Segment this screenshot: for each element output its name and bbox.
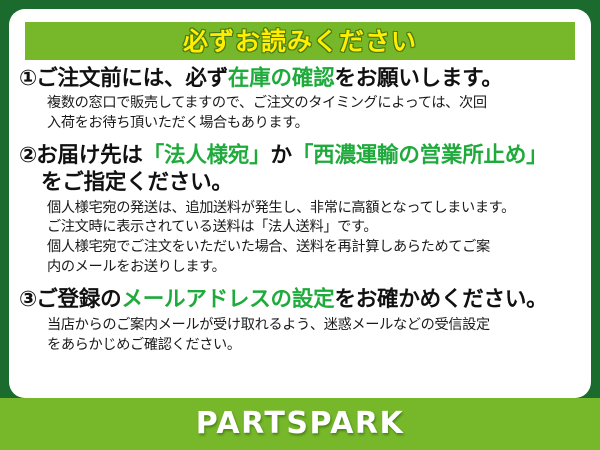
- notice-item-3-head-post: をお確かめください。: [334, 287, 547, 312]
- notice-item-2-body-line: 個人様宅宛の発送は、追加送料が発生し、非常に高額となってしまいます。: [47, 199, 583, 219]
- title-bar: 必ずお読みください: [25, 22, 575, 60]
- notice-item-1-body-line: 複数の窓口で販売してますので、ご注文のタイミングによっては、次回: [47, 94, 583, 114]
- notice-item-3-head-pre: ご登録の: [36, 287, 121, 312]
- notice-item-2-number: ②: [19, 143, 36, 168]
- notice-item-3-highlight: メールアドレスの設定: [121, 287, 334, 312]
- notice-item-3-body: 当店からのご案内メールが受け取れるよう、迷惑メールなどの受信設定 をあらかじめご…: [19, 313, 583, 355]
- notice-item-1-heading: ①ご注文前には、必ず在庫の確認をお願いします。: [19, 66, 583, 92]
- notice-list: ①ご注文前には、必ず在庫の確認をお願いします。 複数の窓口で販売してますので、ご…: [9, 66, 591, 358]
- footer-bar: PARTSPARK: [0, 398, 600, 450]
- notice-item-2-head-mid: か: [271, 143, 292, 168]
- notice-item-2: ②お届け先は「法人様宛」か「西濃運輸の営業所止め」をご指定ください。 個人様宅宛…: [19, 143, 583, 277]
- notice-item-2-highlight: 「法人様宛」: [143, 143, 271, 168]
- notice-item-2-head-cont: をご指定ください。: [19, 170, 583, 196]
- notice-item-2-body: 個人様宅宛の発送は、追加送料が発生し、非常に高額となってしまいます。 ご注文時に…: [19, 196, 583, 277]
- notice-item-2-body-line: ご注文時に表示されている送料は「法人送料」です。: [47, 218, 583, 238]
- banner-title: 必ずお読みください: [183, 29, 417, 54]
- notice-item-1-number: ①: [19, 66, 36, 91]
- notice-item-2-body-line: 内のメールをお送りします。: [47, 258, 583, 278]
- notice-item-2-head-pre: お届け先は: [36, 143, 143, 168]
- notice-item-2-highlight-2: 「西濃運輸の営業所止め」: [292, 143, 548, 168]
- brand-logo: PARTSPARK: [196, 409, 405, 439]
- notice-item-3-heading: ③ご登録のメールアドレスの設定をお確かめください。: [19, 287, 583, 313]
- notice-item-1-head-post: をお願いします。: [334, 66, 502, 91]
- notice-item-1-body-line: 入荷をお待ち頂いただく場合もあります。: [47, 114, 583, 134]
- notice-item-3-body-line: をあらかじめご確認ください。: [47, 336, 583, 356]
- notice-item-3-number: ③: [19, 287, 36, 312]
- notice-item-1-body: 複数の窓口で販売してますので、ご注文のタイミングによっては、次回 入荷をお待ち頂…: [19, 92, 583, 133]
- content-panel: 必ずお読みください ①ご注文前には、必ず在庫の確認をお願いします。 複数の窓口で…: [9, 9, 591, 398]
- notice-item-1: ①ご注文前には、必ず在庫の確認をお願いします。 複数の窓口で販売してますので、ご…: [19, 66, 583, 133]
- notice-item-1-highlight: 在庫の確認: [228, 66, 335, 91]
- notice-item-2-body-line: 個人様宅宛でご注文をいただいた場合、送料を再計算しあらためてご案: [47, 238, 583, 258]
- notice-banner: 必ずお読みください ①ご注文前には、必ず在庫の確認をお願いします。 複数の窓口で…: [0, 0, 600, 450]
- notice-item-3-body-line: 当店からのご案内メールが受け取れるよう、迷惑メールなどの受信設定: [47, 316, 583, 336]
- notice-item-3: ③ご登録のメールアドレスの設定をお確かめください。 当店からのご案内メールが受け…: [19, 287, 583, 355]
- notice-item-1-head-pre: ご注文前には、必ず: [36, 66, 228, 91]
- notice-item-2-heading: ②お届け先は「法人様宛」か「西濃運輸の営業所止め」をご指定ください。: [19, 143, 583, 195]
